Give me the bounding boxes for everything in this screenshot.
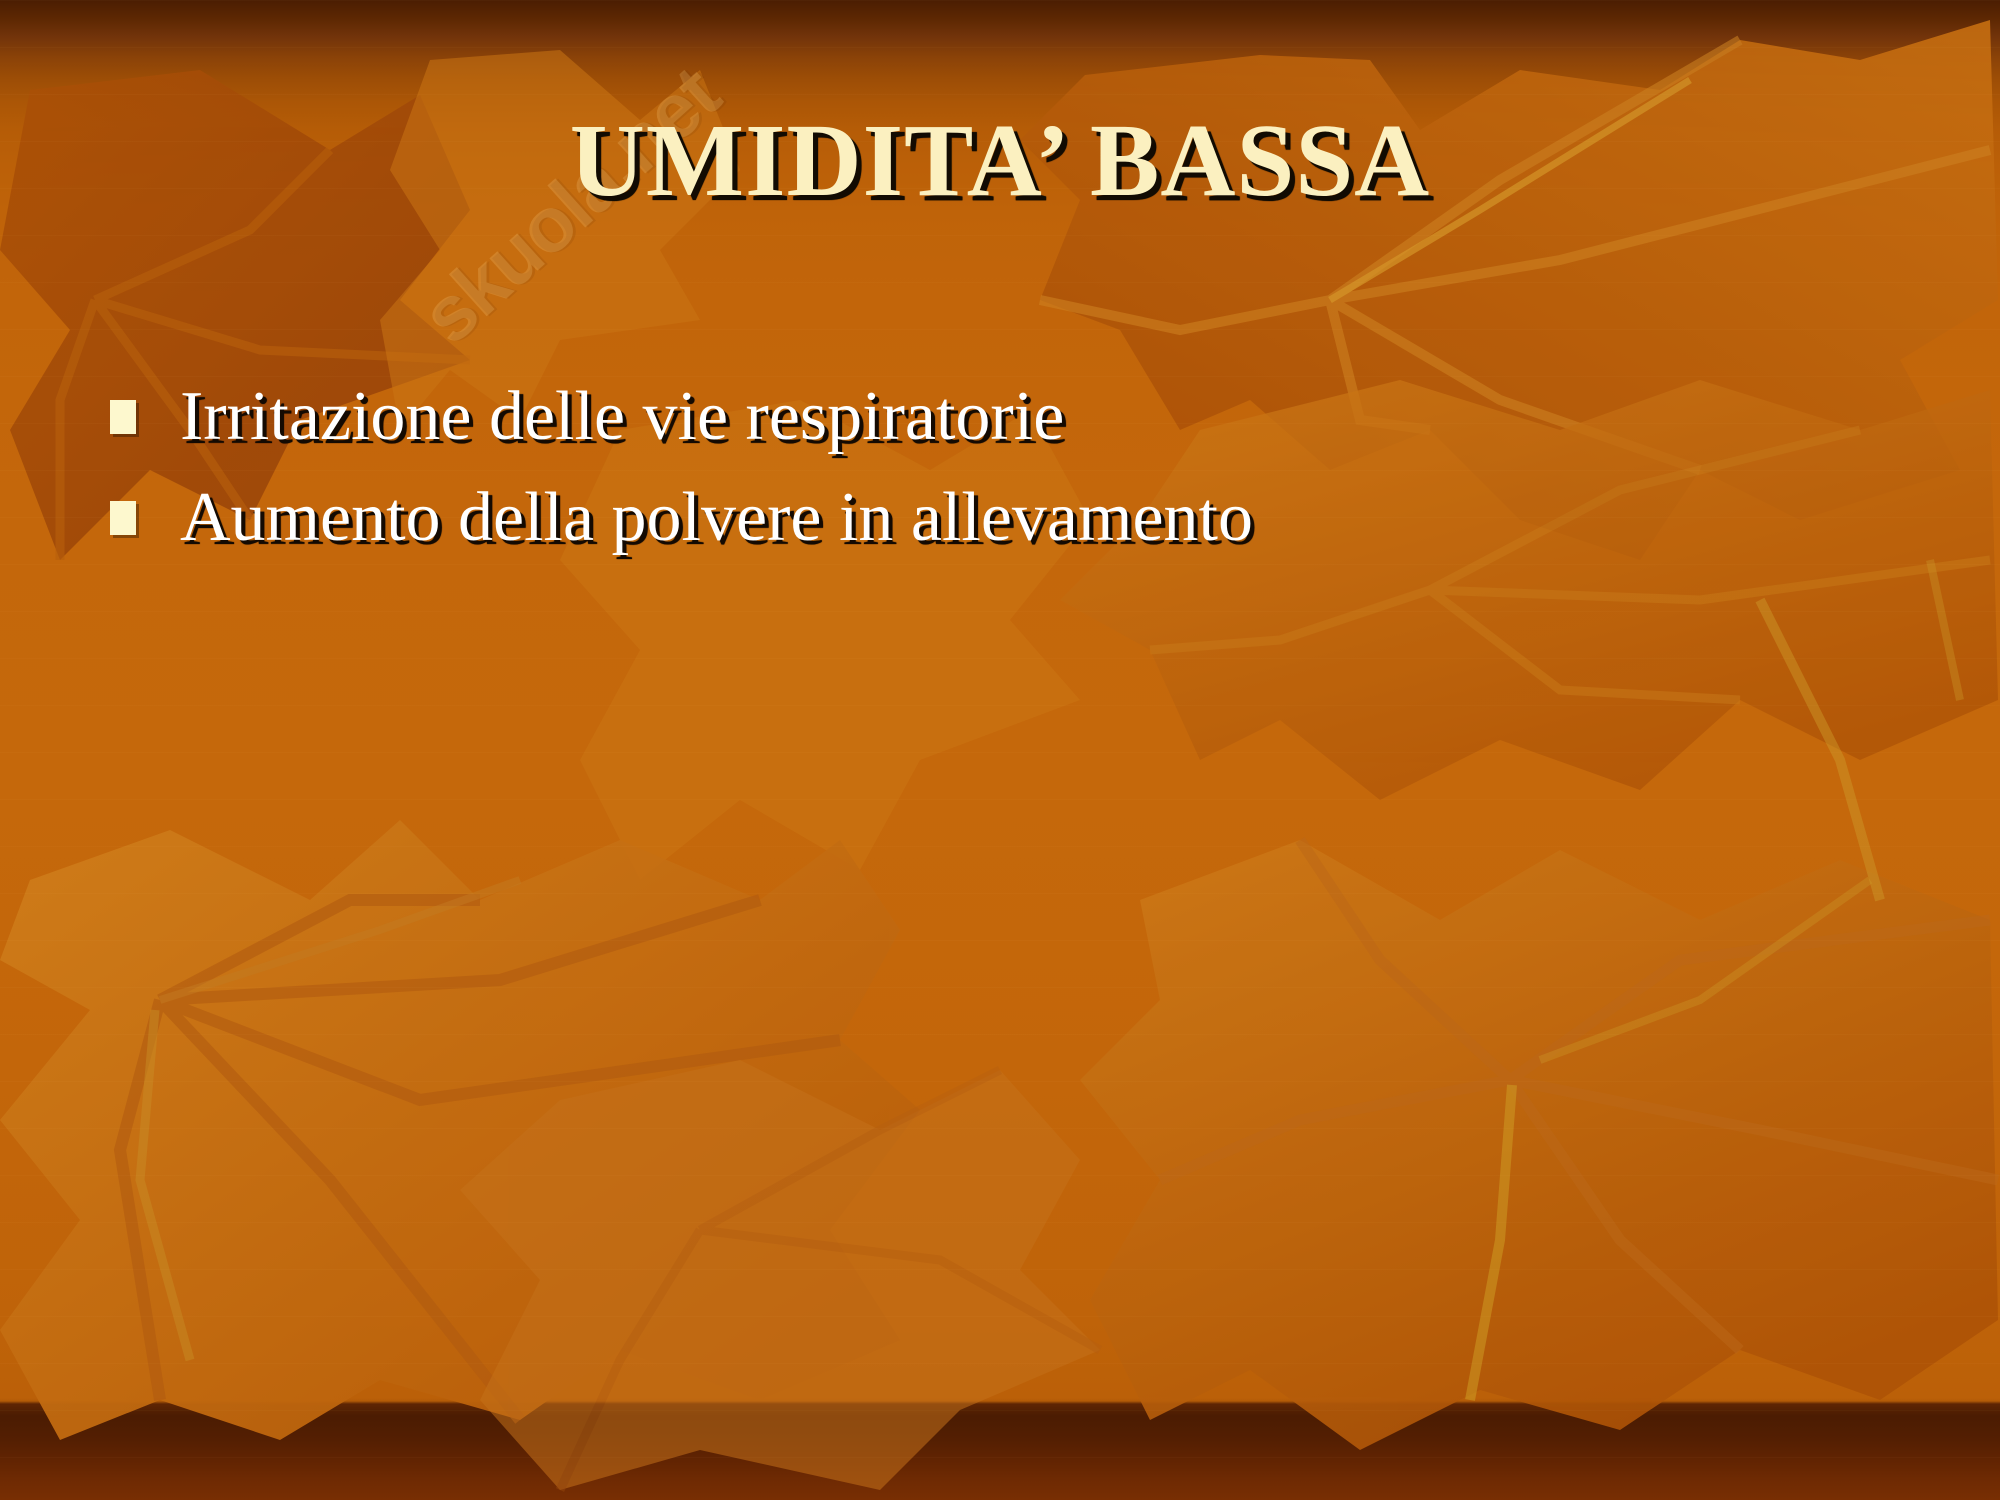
bullet-text: Irritazione delle vie respiratorie [180, 376, 1910, 459]
list-item: Aumento della polvere in allevamento [110, 477, 1910, 560]
presentation-slide: skuola.net UMIDITA’ BASSA Irritazione de… [0, 0, 2000, 1500]
maple-leaf-background-art [0, 0, 2000, 1500]
list-item: Irritazione delle vie respiratorie [110, 376, 1910, 459]
square-bullet-icon [110, 400, 136, 434]
slide-bullet-list: Irritazione delle vie respiratorie Aumen… [110, 376, 1910, 577]
bullet-text: Aumento della polvere in allevamento [180, 477, 1910, 560]
square-bullet-icon [110, 501, 136, 535]
slide-title: UMIDITA’ BASSA [0, 106, 2000, 216]
